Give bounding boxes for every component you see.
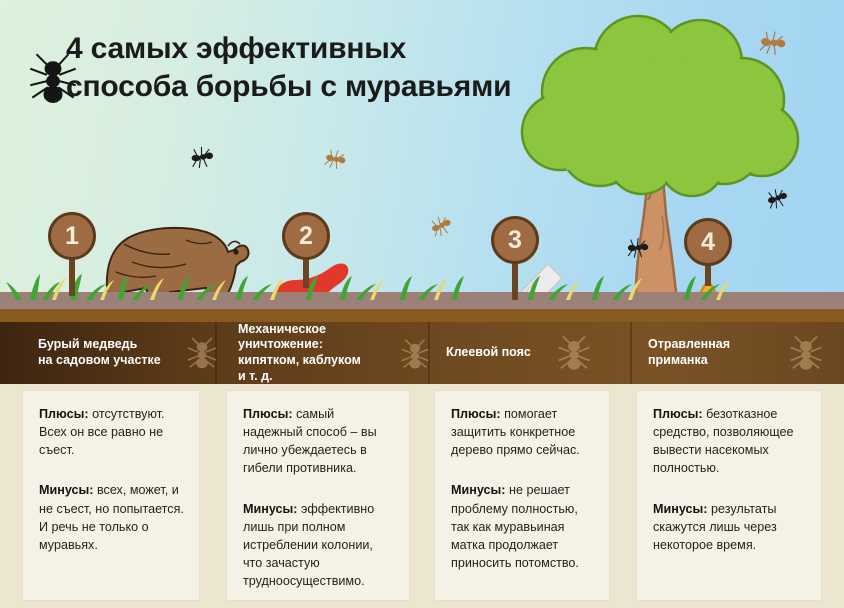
ant-icon [784, 332, 828, 376]
band-header-1-line-1: Бурый медведь [38, 337, 137, 351]
ant-icon [396, 336, 434, 374]
content-panel-3: Плюсы: помогает защитить конкретное дере… [434, 390, 610, 601]
minus-label: Минусы: [653, 502, 707, 516]
content-panel-4: Плюсы: безотказное средство, позволяющее… [636, 390, 822, 601]
band-header-3-line-1: Клеевой пояс [446, 345, 531, 359]
band-header-1-line-2: на садовом участке [38, 353, 161, 367]
badge-stem-3 [512, 258, 518, 300]
band-header-2-line-4: и т. д. [238, 369, 273, 383]
plus-label: Плюсы: [653, 407, 703, 421]
badge-number-1[interactable]: 1 [48, 212, 96, 260]
minus-label: Минусы: [451, 483, 505, 497]
band-header-2-line-1: Механическое [238, 322, 326, 336]
plus-label: Плюсы: [39, 407, 89, 421]
panel-1-minus: Минусы: всех, может, и не съест, но попы… [39, 481, 185, 554]
band-divider-3 [630, 322, 632, 384]
infographic-page: 4 самых эффективных способа борьбы с мур… [0, 0, 844, 608]
ant-icon [552, 332, 596, 376]
panel-2-minus: Минусы: эффективно лишь при полном истре… [243, 500, 395, 591]
badge-number-4[interactable]: 4 [684, 218, 732, 266]
page-title: 4 самых эффективных способа борьбы с мур… [66, 30, 586, 107]
plus-label: Плюсы: [243, 407, 293, 421]
title-line-1: 4 самых эффективных [66, 32, 406, 65]
panel-1-plus: Плюсы: отсутствуют. Всех он все равно не… [39, 405, 185, 459]
panel-4-plus: Плюсы: безотказное средство, позволяющее… [653, 405, 807, 478]
bear-illustration [107, 228, 249, 302]
minus-label: Минусы: [39, 483, 93, 497]
panel-2-plus: Плюсы: самый надежный способ – вы лично … [243, 405, 395, 478]
category-header-band: Бурый медведь на садовом участке Механич… [0, 322, 844, 384]
band-header-4-line-1: Отравленная [648, 337, 730, 351]
plus-label: Плюсы: [451, 407, 501, 421]
title-line-2: способа борьбы с муравьями [66, 68, 586, 106]
minus-label: Минусы: [243, 502, 297, 516]
soil-layer-lower [0, 309, 844, 322]
panel-3-plus: Плюсы: помогает защитить конкретное дере… [451, 405, 595, 459]
panel-3-minus: Минусы: не решает проблему полностью, та… [451, 481, 595, 572]
panel-4-minus: Минусы: результаты скажутся лишь через н… [653, 500, 807, 554]
band-header-2-line-2: уничтожение: [238, 337, 323, 351]
content-panel-2: Плюсы: самый надежный способ – вы лично … [226, 390, 410, 601]
content-panel-1: Плюсы: отсутствуют. Всех он все равно не… [22, 390, 200, 601]
band-header-2-line-3: кипятком, каблуком [238, 353, 361, 367]
ant-icon [182, 334, 222, 374]
illustration-scene: 4 самых эффективных способа борьбы с мур… [0, 0, 844, 322]
content-panels: Плюсы: отсутствуют. Всех он все равно не… [0, 384, 844, 608]
band-header-4-line-2: приманка [648, 353, 708, 367]
badge-number-3[interactable]: 3 [491, 216, 539, 264]
badge-number-2[interactable]: 2 [282, 212, 330, 260]
